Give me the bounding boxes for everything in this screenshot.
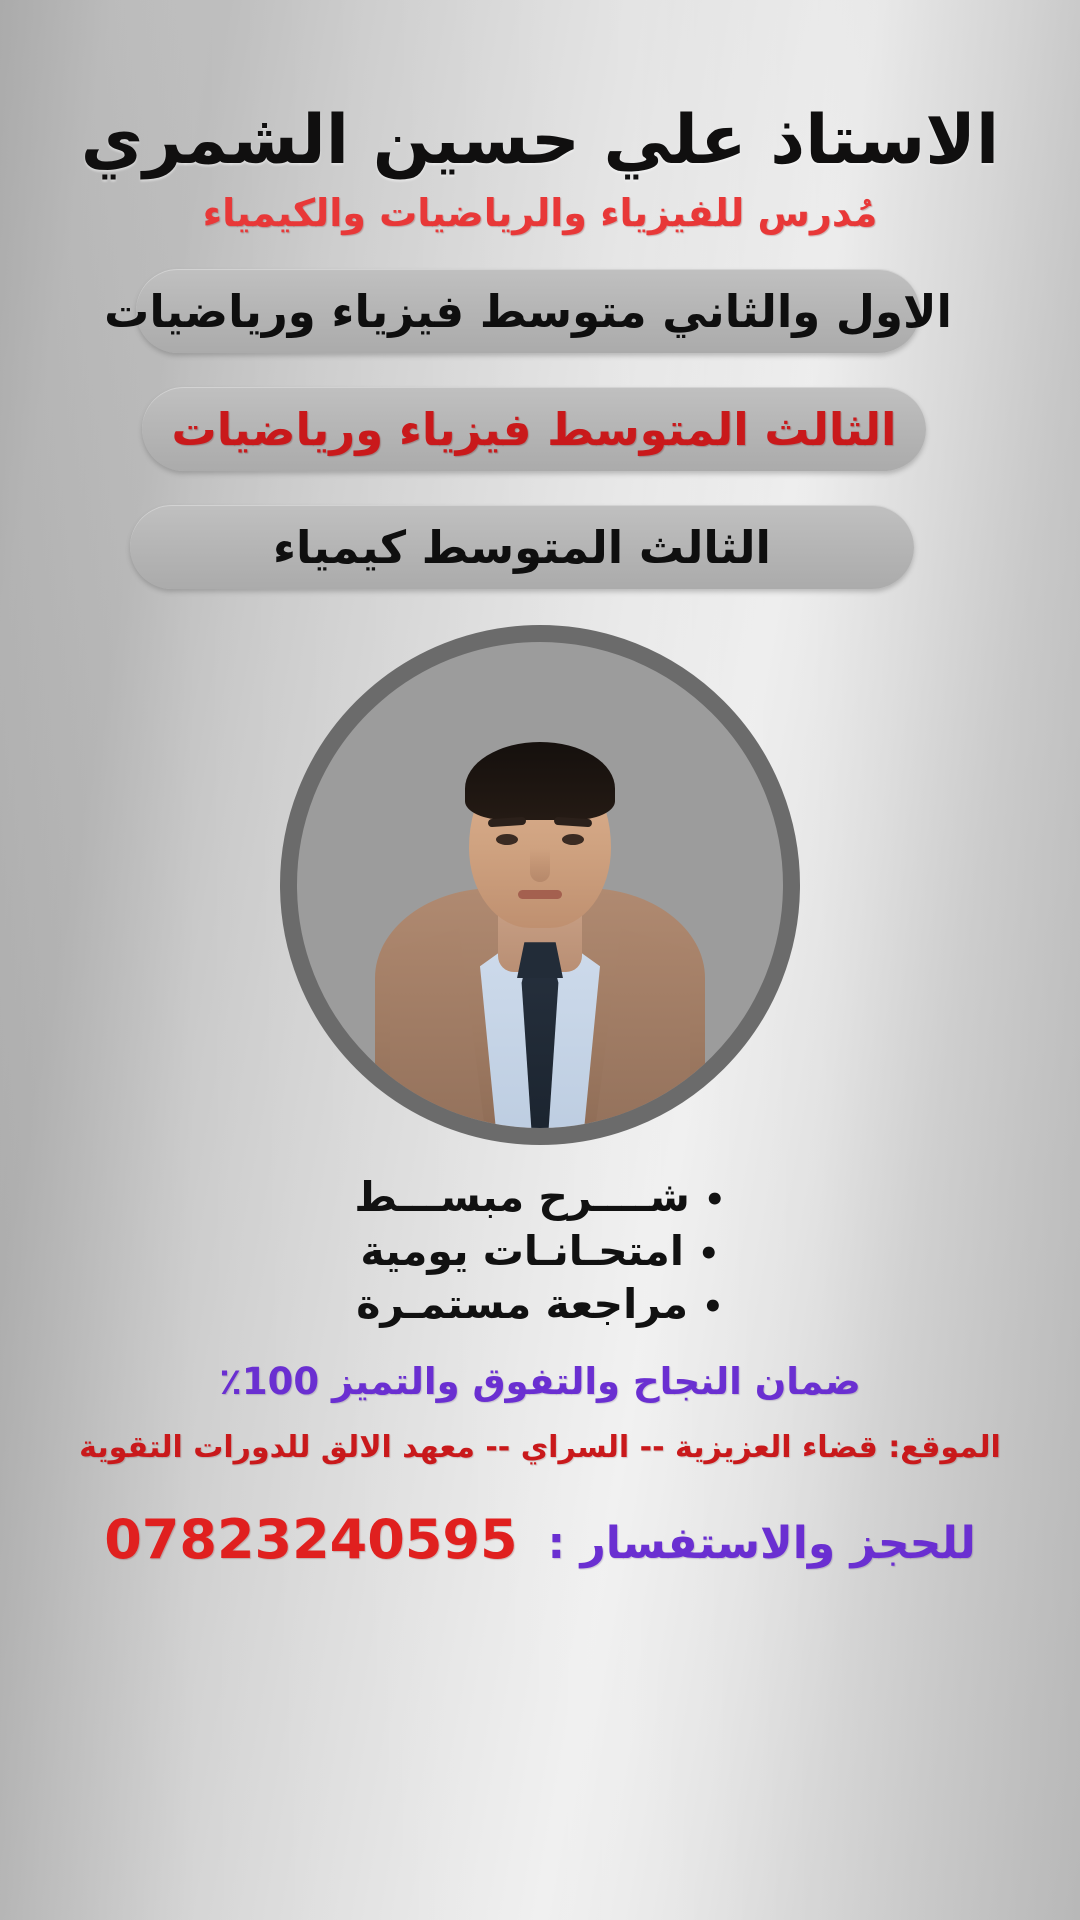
list-item: •شــــرح مبســـط [40,1171,1040,1224]
feature-label: شــــرح مبســـط [354,1173,690,1221]
course-pill-grade-1-2[interactable]: الاول والثاني متوسط فيزياء ورياضيات [136,269,920,353]
phone-number[interactable]: 07823240595 [104,1508,517,1571]
nose-shape [530,848,550,882]
list-item: •مراجعة مستمـرة [40,1278,1040,1331]
bullet-dot-icon: • [704,1183,726,1217]
list-item: •امتحـانـات يومية [40,1225,1040,1278]
bullet-dot-icon: • [698,1237,720,1271]
course-pill-label: الثالث المتوسط كيمياء [273,521,771,574]
course-pill-list: الاول والثاني متوسط فيزياء ورياضيات الثا… [0,269,1080,589]
necktie-knot [517,942,563,978]
feature-list: •شــــرح مبســـط •امتحـانـات يومية •مراج… [0,1171,1080,1331]
contact-label: للحجز والاستفسار : [548,1518,976,1569]
contact-row: للحجز والاستفسار : 07823240595 [18,1508,1062,1571]
guarantee-text: ضمان النجاح والتفوق والتميز 100٪ [18,1361,1062,1404]
course-pill-label: الاول والثاني متوسط فيزياء ورياضيات [104,285,952,338]
portrait-section [0,625,1080,1145]
hair-shape [465,742,615,820]
feature-label: مراجعة مستمـرة [356,1280,688,1328]
mouth-shape [518,890,562,899]
course-pill-grade-3-physics-math[interactable]: الثالث المتوسط فيزياء ورياضيات [142,387,926,471]
poster-header: الاستاذ علي حسين الشمري مُدرس للفيزياء و… [0,0,1080,235]
location-text: الموقع: قضاء العزيزية -- السراي -- معهد … [18,1430,1062,1466]
feature-label: امتحـانـات يومية [360,1227,684,1275]
portrait-photo [280,625,800,1145]
page-title: الاستاذ علي حسين الشمري [0,104,1080,177]
poster-footer: ضمان النجاح والتفوق والتميز 100٪ الموقع:… [0,1361,1080,1571]
page-subtitle: مُدرس للفيزياء والرياضيات والكيمياء [0,193,1080,235]
course-pill-label: الثالث المتوسط فيزياء ورياضيات [172,403,897,456]
poster-root: الاستاذ علي حسين الشمري مُدرس للفيزياء و… [0,0,1080,1920]
course-pill-grade-3-chemistry[interactable]: الثالث المتوسط كيمياء [130,505,914,589]
bullet-dot-icon: • [702,1290,724,1324]
